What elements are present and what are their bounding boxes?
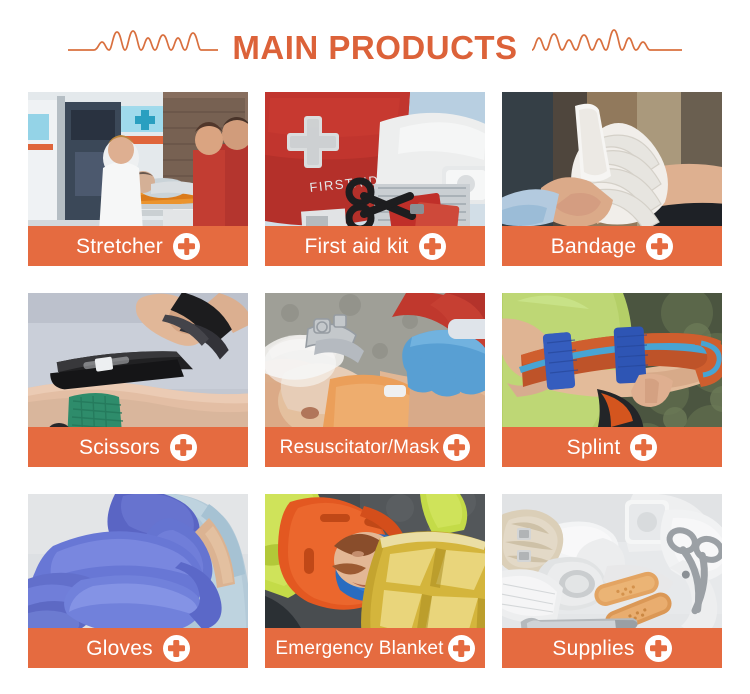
product-card-gloves[interactable]: Gloves <box>28 494 248 668</box>
product-label-bar[interactable]: Scissors <box>28 427 248 467</box>
product-label-bar[interactable]: Resuscitator/Mask <box>265 427 485 467</box>
ecg-wave-icon <box>532 26 682 71</box>
plus-circle-icon[interactable] <box>645 635 672 662</box>
plus-circle-icon[interactable] <box>419 233 446 260</box>
product-label-bar[interactable]: Splint <box>502 427 722 467</box>
product-label-text: Bandage <box>551 236 636 257</box>
product-label-text: Resuscitator/Mask <box>280 438 440 457</box>
product-label-text: Stretcher <box>76 236 163 257</box>
plus-circle-icon[interactable] <box>173 233 200 260</box>
product-label-bar[interactable]: First aid kit <box>265 226 485 266</box>
product-card-first-aid-kit[interactable]: FIRSTAID <box>265 92 485 266</box>
product-label-bar[interactable]: Supplies <box>502 628 722 668</box>
product-card-splint[interactable]: Splint <box>502 293 722 467</box>
plus-circle-icon[interactable] <box>646 233 673 260</box>
plus-circle-icon[interactable] <box>448 635 475 662</box>
plus-circle-icon[interactable] <box>170 434 197 461</box>
product-grid: Stretcher FIRSTAID <box>28 92 722 668</box>
page-header: MAIN PRODUCTS <box>0 0 750 92</box>
plus-circle-icon[interactable] <box>163 635 190 662</box>
plus-circle-icon[interactable] <box>443 434 470 461</box>
product-label-bar[interactable]: Gloves <box>28 628 248 668</box>
product-label-text: First aid kit <box>304 236 408 257</box>
page-title: MAIN PRODUCTS <box>232 29 517 67</box>
product-card-bandage[interactable]: Bandage <box>502 92 722 266</box>
product-label-text: Supplies <box>552 638 634 659</box>
product-card-emergency-blanket[interactable]: Emergency Blanket <box>265 494 485 668</box>
product-label-bar[interactable]: Stretcher <box>28 226 248 266</box>
product-label-text: Gloves <box>86 638 153 659</box>
ecg-wave-icon <box>68 26 218 71</box>
product-label-text: Splint <box>567 437 621 458</box>
product-label-text: Scissors <box>79 437 160 458</box>
product-label-bar[interactable]: Bandage <box>502 226 722 266</box>
product-label-bar[interactable]: Emergency Blanket <box>265 628 485 668</box>
product-card-resuscitator-mask[interactable]: Resuscitator/Mask <box>265 293 485 467</box>
product-card-supplies[interactable]: Supplies <box>502 494 722 668</box>
product-card-stretcher[interactable]: Stretcher <box>28 92 248 266</box>
plus-circle-icon[interactable] <box>630 434 657 461</box>
product-label-text: Emergency Blanket <box>275 639 443 658</box>
product-card-scissors[interactable]: Scissors <box>28 293 248 467</box>
